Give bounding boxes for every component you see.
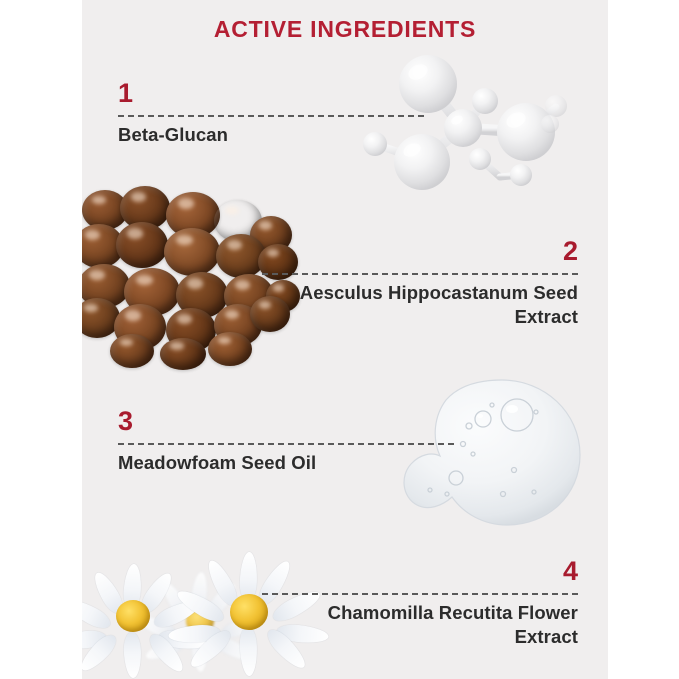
ingredient-item-3: 3 Meadowfoam Seed Oil xyxy=(118,408,454,475)
page-title: ACTIVE INGREDIENTS xyxy=(82,16,608,43)
ingredient-number: 2 xyxy=(262,238,578,265)
ingredient-name: Chamomilla Recutita Flower Extract xyxy=(262,601,578,650)
dashed-divider xyxy=(262,273,578,275)
dashed-divider xyxy=(118,115,424,117)
dashed-divider xyxy=(118,443,454,445)
ingredient-number: 1 xyxy=(118,80,424,107)
ingredient-name: Aesculus Hippocastanum Seed Extract xyxy=(262,281,578,330)
ingredient-name: Beta-Glucan xyxy=(118,123,424,147)
active-ingredients-poster: ACTIVE INGREDIENTS xyxy=(0,0,679,679)
ingredient-name: Meadowfoam Seed Oil xyxy=(118,451,454,475)
ingredient-item-1: 1 Beta-Glucan xyxy=(118,80,424,147)
content-panel: ACTIVE INGREDIENTS xyxy=(82,0,608,679)
ingredient-item-4: 4 Chamomilla Recutita Flower Extract xyxy=(262,558,578,650)
dashed-divider xyxy=(262,593,578,595)
ingredient-number: 4 xyxy=(262,558,578,585)
ingredient-item-2: 2 Aesculus Hippocastanum Seed Extract xyxy=(262,238,578,330)
ingredient-number: 3 xyxy=(118,408,454,435)
